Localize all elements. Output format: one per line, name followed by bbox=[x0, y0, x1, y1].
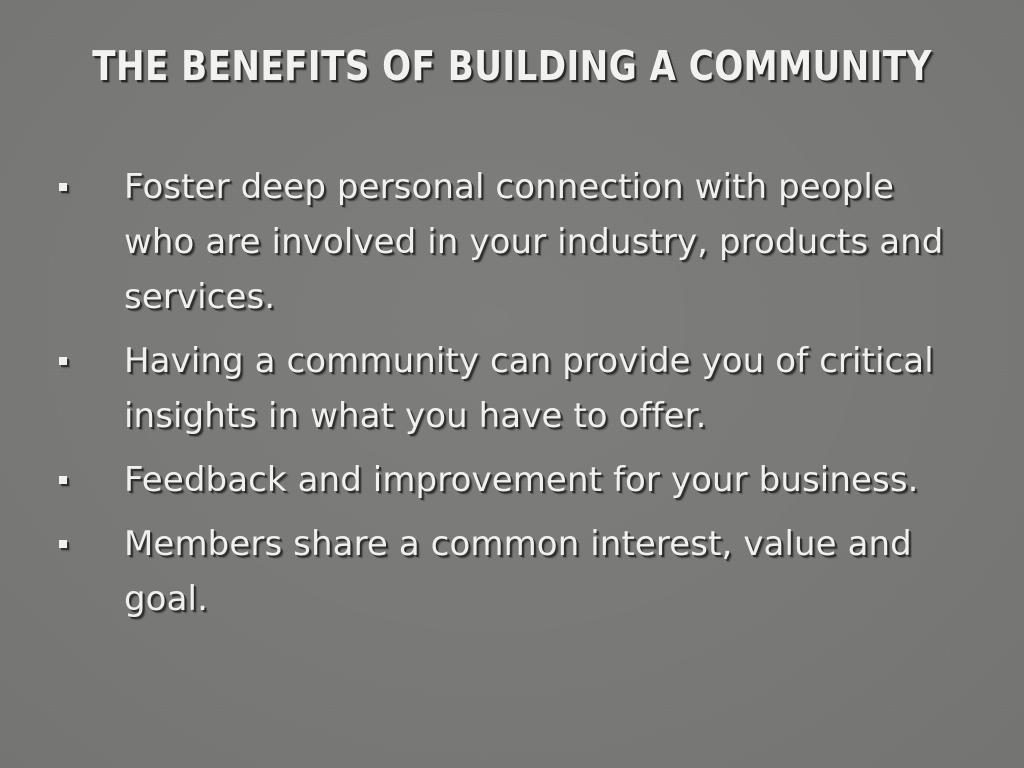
square-bullet-icon bbox=[59, 540, 67, 548]
square-bullet-icon bbox=[59, 357, 67, 365]
square-bullet-icon bbox=[59, 476, 67, 484]
list-item-text: Having a community can provide you of cr… bbox=[124, 341, 934, 436]
list-item-text: Feedback and improvement for your busine… bbox=[124, 460, 919, 500]
square-bullet-icon bbox=[59, 183, 67, 191]
list-item-text: Members share a common interest, value a… bbox=[124, 524, 912, 619]
presentation-slide: The Benefits of Building a Community Fos… bbox=[0, 0, 1024, 768]
list-item: Having a community can provide you of cr… bbox=[52, 334, 952, 444]
list-item: Members share a common interest, value a… bbox=[52, 517, 952, 627]
list-item: Feedback and improvement for your busine… bbox=[52, 453, 952, 508]
bullet-list: Foster deep personal connection with peo… bbox=[52, 160, 952, 627]
list-item: Foster deep personal connection with peo… bbox=[52, 160, 952, 325]
list-item-text: Foster deep personal connection with peo… bbox=[124, 167, 943, 317]
slide-title: The Benefits of Building a Community bbox=[38, 43, 985, 89]
